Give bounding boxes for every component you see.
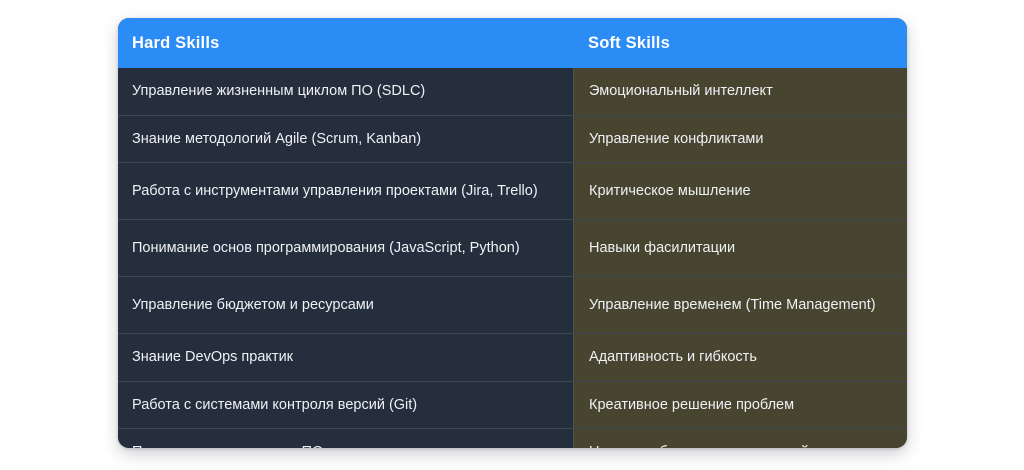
column-header-soft-skills: Soft Skills (573, 18, 907, 68)
cell-soft-skill: Критическое мышление (573, 163, 907, 219)
table-row: Понимание основ программирования (JavaSc… (118, 219, 907, 276)
table-row: Управление жизненным циклом ПО (SDLC) Эм… (118, 68, 907, 115)
cell-soft-skill: Адаптивность и гибкость (573, 334, 907, 381)
cell-hard-skill: Управление жизненным циклом ПО (SDLC) (118, 68, 573, 115)
cell-hard-skill: Работа с инструментами управления проект… (118, 163, 573, 219)
cell-hard-skill: Знание методологий Agile (Scrum, Kanban) (118, 116, 573, 163)
column-header-hard-skills: Hard Skills (118, 18, 573, 68)
cell-hard-skill: Понимание основ программирования (JavaSc… (118, 220, 573, 276)
cell-soft-skill: Эмоциональный интеллект (573, 68, 907, 115)
table-row: Понимание архитектуры ПО Навыки публичны… (118, 428, 907, 448)
table-row: Работа с инструментами управления проект… (118, 162, 907, 219)
cell-hard-skill: Управление бюджетом и ресурсами (118, 277, 573, 333)
cell-hard-skill: Понимание архитектуры ПО (118, 429, 573, 448)
cell-soft-skill: Навыки фасилитации (573, 220, 907, 276)
cell-soft-skill: Навыки публичных выступлений (573, 429, 907, 448)
skills-comparison-table: Hard Skills Soft Skills Управление жизне… (118, 18, 907, 448)
cell-soft-skill: Креативное решение проблем (573, 382, 907, 429)
page-container: Hard Skills Soft Skills Управление жизне… (0, 0, 1024, 470)
table-row: Управление бюджетом и ресурсами Управлен… (118, 276, 907, 333)
table-row: Знание методологий Agile (Scrum, Kanban)… (118, 115, 907, 163)
cell-soft-skill: Управление временем (Time Management) (573, 277, 907, 333)
cell-soft-skill: Управление конфликтами (573, 116, 907, 163)
table-body: Управление жизненным циклом ПО (SDLC) Эм… (118, 68, 907, 448)
table-header-row: Hard Skills Soft Skills (118, 18, 907, 68)
cell-hard-skill: Знание DevOps практик (118, 334, 573, 381)
table-row: Знание DevOps практик Адаптивность и гиб… (118, 333, 907, 381)
cell-hard-skill: Работа с системами контроля версий (Git) (118, 382, 573, 429)
table-row: Работа с системами контроля версий (Git)… (118, 381, 907, 429)
